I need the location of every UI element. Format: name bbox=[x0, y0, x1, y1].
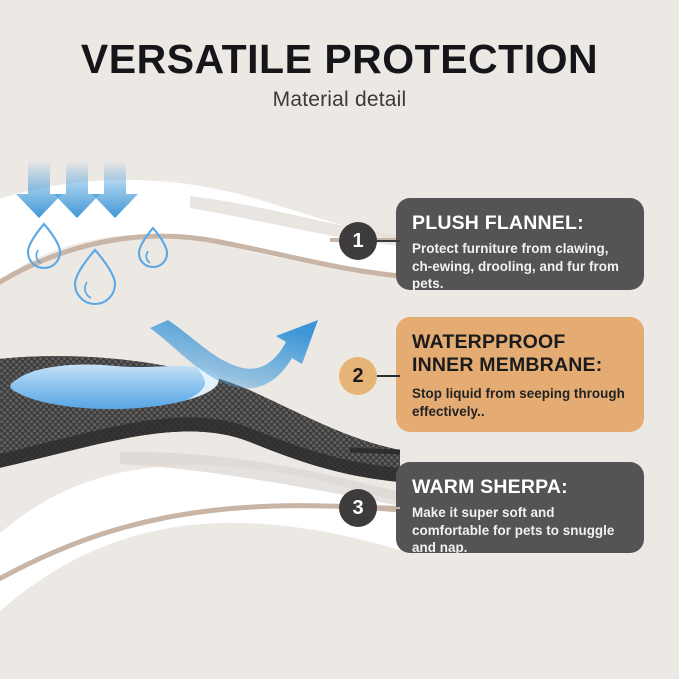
badge-number-1[interactable]: 1 bbox=[339, 222, 377, 260]
callout-title-1: PLUSH FLANNEL: bbox=[412, 212, 630, 235]
callout-body-1: Protect furniture from clawing, ch-ewing… bbox=[412, 240, 630, 293]
page-title: VERSATILE PROTECTION bbox=[0, 36, 679, 82]
callout-plush-flannel[interactable]: PLUSH FLANNEL: Protect furniture from cl… bbox=[396, 198, 644, 290]
callout-body-2: Stop liquid from seeping through effecti… bbox=[412, 385, 630, 420]
badge-number-3[interactable]: 3 bbox=[339, 489, 377, 527]
down-arrows bbox=[16, 160, 138, 218]
badge-number-2[interactable]: 2 bbox=[339, 357, 377, 395]
droplet-icon bbox=[75, 250, 115, 304]
callout-waterproof-membrane[interactable]: WATERPPROOF INNER MEMBRANE: Stop liquid … bbox=[396, 317, 644, 432]
page-subtitle: Material detail bbox=[0, 86, 679, 114]
callout-warm-sherpa[interactable]: WARM SHERPA: Make it super soft and comf… bbox=[396, 462, 644, 553]
material-layers-illustration bbox=[0, 150, 400, 620]
callout-title-3: WARM SHERPA: bbox=[412, 476, 630, 499]
callout-title-2: WATERPPROOF INNER MEMBRANE: bbox=[412, 331, 630, 377]
warm-sherpa-layer bbox=[0, 452, 400, 620]
callout-body-3: Make it super soft and comfortable for p… bbox=[412, 504, 630, 557]
infographic-root: VERSATILE PROTECTION Material detail bbox=[0, 0, 679, 679]
